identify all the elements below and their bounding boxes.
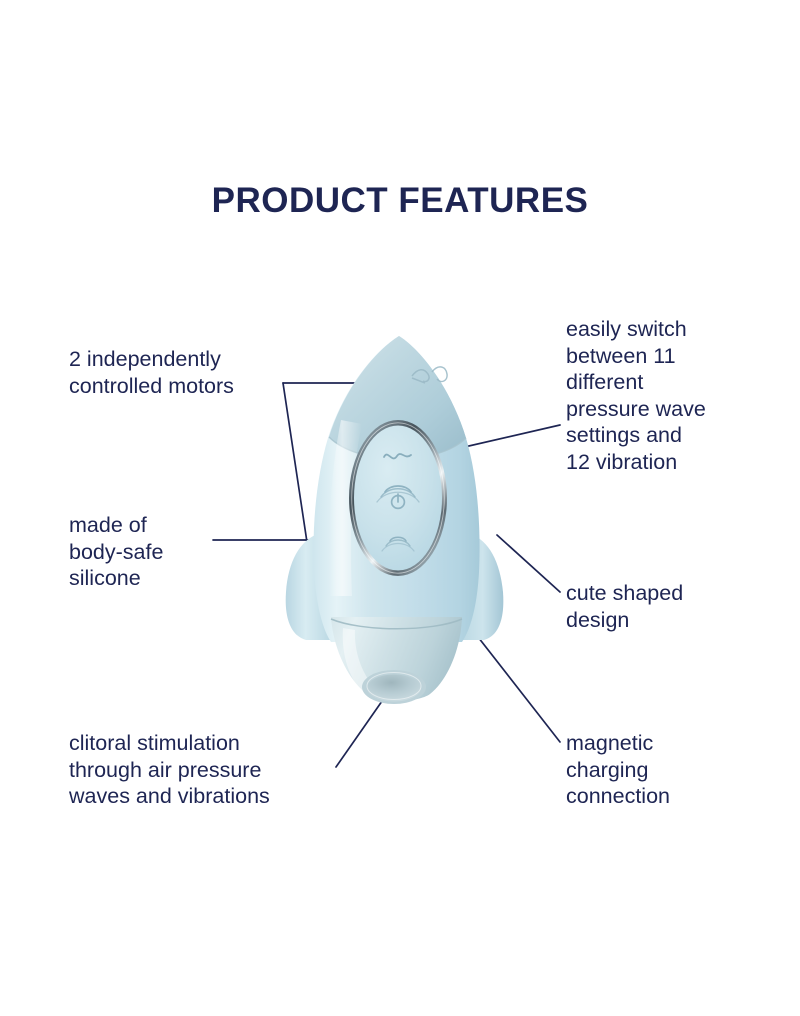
product-base [331, 617, 462, 701]
callout-magnetic-charging: magnetic charging connection [566, 730, 746, 810]
leader-settings [421, 425, 560, 457]
control-panel-face[interactable] [354, 426, 442, 571]
pressure-wave-icon[interactable] [382, 537, 414, 551]
callout-silicone: made of body-safe silicone [69, 512, 269, 592]
power-signal-icon[interactable] [377, 486, 419, 508]
base-highlight [343, 628, 375, 692]
air-pulse-opening[interactable] [367, 675, 421, 702]
fin-left [286, 534, 330, 640]
product-illustration [0, 0, 800, 1016]
product-nose-cone [329, 336, 466, 459]
body-highlight [329, 420, 362, 596]
nose-seam [329, 437, 466, 459]
wave-icon[interactable] [384, 454, 411, 458]
leader-motors-branch-right [330, 383, 371, 570]
fin-right [462, 534, 503, 640]
nozzle-outer [362, 670, 426, 704]
control-panel-gloss [352, 423, 445, 573]
leader-motors-branch-left [283, 383, 313, 582]
base-seam [331, 619, 462, 629]
leader-design [497, 535, 560, 592]
leader-magnetic [471, 628, 560, 742]
page-title: PRODUCT FEATURES [0, 182, 800, 221]
brand-emblem-icon [412, 367, 447, 383]
control-panel-ring [349, 420, 447, 576]
product-main-body [314, 336, 480, 642]
callout-motors: 2 independently controlled motors [69, 346, 319, 399]
infographic-canvas: PRODUCT FEATURES [0, 0, 800, 1016]
callout-clitoral-stimulation: clitoral stimulation through air pressur… [69, 730, 349, 810]
callout-design: cute shaped design [566, 580, 746, 633]
callout-settings: easily switch between 11 different press… [566, 316, 746, 475]
nozzle-rim-gloss [367, 673, 421, 700]
